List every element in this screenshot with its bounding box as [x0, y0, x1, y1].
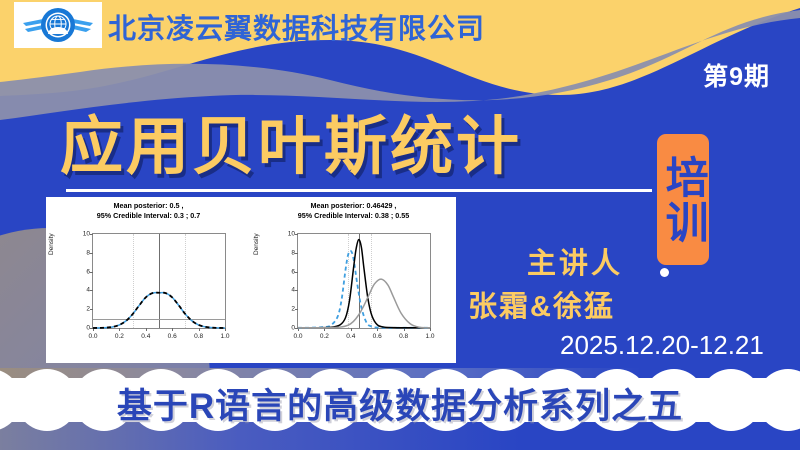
x-axis-tick-label: 0.6: [373, 333, 382, 340]
series-posterior-overlay: [93, 293, 225, 328]
chart-right-plot-area: 02468100.00.20.40.60.81.0: [297, 233, 431, 329]
series-prior: [298, 251, 430, 328]
x-axis-tick-label: 0.2: [115, 333, 124, 340]
logo-container: [14, 2, 102, 48]
x-axis-tick-label: 0.4: [346, 333, 355, 340]
y-axis-tick-label: 10: [288, 231, 295, 238]
poster-root: 北京凌云翼数据科技有限公司 第9期 应用贝叶斯统计 培训 主讲人 张霜&徐猛 2…: [0, 0, 800, 450]
series-subtitle: 基于R语言的高级数据分析系列之五: [0, 378, 800, 429]
chart-left-title-line1: Mean posterior: 0.5 ,: [46, 201, 251, 211]
chart-right: Mean posterior: 0.46429 , 95% Credible I…: [251, 197, 456, 363]
x-axis-tick-label: 0.8: [194, 333, 203, 340]
training-badge: 培训: [657, 134, 709, 265]
chart-right-title-line1: Mean posterior: 0.46429 ,: [251, 201, 456, 211]
chart-right-ylabel: Density: [253, 233, 260, 255]
chart-left-plot-area: 02468100.00.20.40.60.81.0: [92, 233, 226, 329]
winged-globe-logo-icon: [21, 5, 95, 45]
speaker-label: 主讲人: [527, 240, 623, 282]
x-axis-tick-mark: [225, 328, 226, 331]
speaker-names: 张霜&徐猛: [468, 283, 615, 325]
x-axis-tick-mark: [146, 328, 147, 331]
chart-panel: Mean posterior: 0.5 , 95% Credible Inter…: [46, 197, 456, 363]
x-axis-tick-mark: [199, 328, 200, 331]
x-axis-tick-label: 0.6: [168, 333, 177, 340]
x-axis-tick-mark: [119, 328, 120, 331]
chart-curves: [298, 234, 430, 328]
x-axis-tick-mark: [172, 328, 173, 331]
x-axis-tick-label: 0.4: [141, 333, 150, 340]
issue-number-badge: 第9期: [703, 57, 770, 93]
chart-left: Mean posterior: 0.5 , 95% Credible Inter…: [46, 197, 251, 363]
chart-curves: [93, 234, 225, 328]
chart-left-title: Mean posterior: 0.5 , 95% Credible Inter…: [46, 201, 251, 221]
y-axis-tick-label: 10: [83, 231, 90, 238]
decorative-dot: [660, 268, 669, 277]
x-axis-tick-label: 0.0: [293, 333, 302, 340]
x-axis-tick-label: 0.0: [88, 333, 97, 340]
header: 北京凌云翼数据科技有限公司: [0, 0, 800, 52]
series-posterior: [93, 293, 225, 328]
chart-left-title-line2: 95% Credible Interval: 0.3 ; 0.7: [46, 211, 251, 221]
chart-left-ylabel: Density: [48, 233, 55, 255]
x-axis-tick-label: 1.0: [425, 333, 434, 340]
page-title: 应用贝叶斯统计: [60, 96, 522, 187]
x-axis-tick-label: 1.0: [220, 333, 229, 340]
x-axis-tick-label: 0.2: [320, 333, 329, 340]
x-axis-tick-mark: [351, 328, 352, 331]
x-axis-tick-mark: [430, 328, 431, 331]
x-axis-tick-label: 0.8: [399, 333, 408, 340]
company-name: 北京凌云翼数据科技有限公司: [108, 7, 485, 47]
training-badge-label: 培训: [661, 155, 705, 245]
title-underline-rule: [66, 189, 652, 192]
chart-right-title: Mean posterior: 0.46429 , 95% Credible I…: [251, 201, 456, 221]
chart-right-title-line2: 95% Credible Interval: 0.38 ; 0.55: [251, 211, 456, 221]
date-range: 2025.12.20-12.21: [560, 330, 764, 361]
series-likelihood: [298, 279, 430, 328]
